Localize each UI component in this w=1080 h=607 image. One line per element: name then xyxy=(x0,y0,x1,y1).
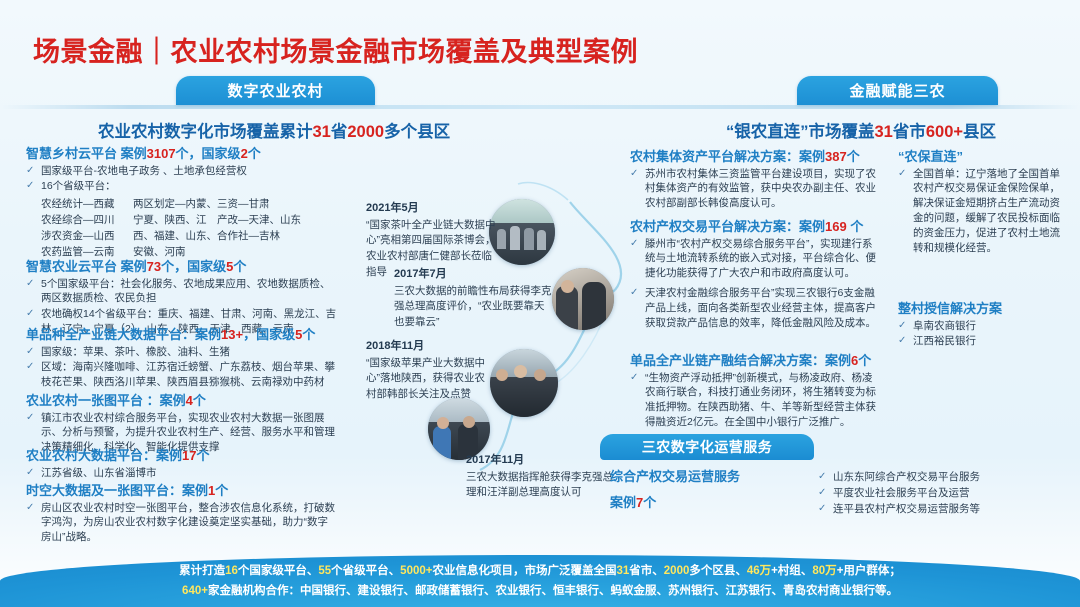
list-item: ✓区域：海南兴隆咖啡、江苏宿迁螃蟹、广东荔枝、烟台苹果、攀枝花芒果、陕西洛川苹果… xyxy=(26,360,344,390)
block-ops-service-list: ✓山东东阿综合产权交易平台服务 ✓平度农业社会服务平台及运营 ✓连平县农村产权交… xyxy=(818,470,1068,518)
heading-pre: 农业农村大数据平台：案例 xyxy=(26,448,182,463)
banner-highlight: 640+ xyxy=(182,585,208,597)
list-item: ✓阜南农商银行 xyxy=(898,319,1070,334)
left-banner-count-counties: 2000 xyxy=(347,123,384,141)
list-item-text: 苏州市农村集体三资监管平台建设项目，实现了农村集体资产的有效监管，获中央农办副主… xyxy=(645,168,876,210)
list-item-text: 全国首单：辽宁落地了全国首单农村产权交易保证金保险保单，解决保证金短期挤占生产流… xyxy=(913,168,1060,255)
list-item-text: 国家级平台-农地电子政务 、土地承包经营权 xyxy=(41,165,247,177)
list-item: ✓房山区农业农村时空一张图平台，整合涉农信息化系统，打破数字鸿沟，为房山农业农村… xyxy=(26,501,338,546)
timeline-item-2017-11: 2017年11月 三农大数据指挥舱获得李克强总理和汪洋副总理高度认可 xyxy=(466,452,618,501)
header-divider xyxy=(0,105,1080,109)
check-icon: ✓ xyxy=(898,319,906,333)
province-cell: 两区划定—内蒙、 xyxy=(133,197,217,213)
banner-highlight: 55 xyxy=(318,565,331,577)
slide-root: 场景金融｜农业农村场景金融市场覆盖及典型案例 数字农业农村 金融赋能三农 农业农… xyxy=(0,0,1080,607)
check-icon: ✓ xyxy=(818,470,826,484)
block-collective-assets: 农村集体资产平台解决方案：案例387个 ✓苏州市农村集体三资监管平台建设项目，实… xyxy=(630,148,882,212)
heading-pre: 农业农村一张图平台 ：案例 xyxy=(26,393,186,408)
photo-apple-bigdata-center xyxy=(490,349,558,417)
banner-text: 个国家级平台、 xyxy=(238,565,319,577)
list-item: ✓江西裕民银行 xyxy=(898,334,1070,349)
right-banner-count-counties: 600+ xyxy=(926,123,963,141)
heading-mid: ，国家级 xyxy=(243,327,295,342)
block-heading: 智慧农业云平台 案例73个，国家级5个 xyxy=(26,258,338,276)
check-icon: ✓ xyxy=(630,167,638,181)
banner-text: 农业信息化项目，市场广泛覆盖全国 xyxy=(432,565,616,577)
block-heading: 智慧乡村云平台 案例3107个，国家级2个 xyxy=(26,145,338,163)
block-list: ✓国家级平台-农地电子政务 、土地承包经营权 ✓16个省级平台： xyxy=(26,164,338,195)
check-icon: ✓ xyxy=(26,466,34,480)
timeline-text: 三农大数据指挥舱获得李克强总理和汪洋副总理高度认可 xyxy=(466,471,613,499)
banner-highlight: 46万 xyxy=(747,565,771,577)
left-banner-post: 多个县区 xyxy=(384,123,450,141)
check-icon: ✓ xyxy=(26,277,34,291)
list-item-text: 房山区农业农村时空一张图平台，整合涉农信息化系统，打破数字鸿沟，为房山农业农村数… xyxy=(41,502,335,544)
block-list: ✓房山区农业农村时空一张图平台，整合涉农信息化系统，打破数字鸿沟，为房山农业农村… xyxy=(26,501,338,546)
list-item: ✓滕州市“农村产权交易综合服务平台”，实现建行系统与土地流转系统的嵌入式对接，平… xyxy=(630,237,882,282)
banner-text: +用户群体； xyxy=(837,565,901,577)
check-icon: ✓ xyxy=(26,307,34,321)
banner-text: 家金融机构合作：中国银行、建设银行、邮政储蓄银行、农业银行、恒丰银行、蚂蚁金服、… xyxy=(208,585,898,597)
banner-text: 累计打造 xyxy=(179,565,225,577)
timeline-item-2017-07: 2017年7月 三农大数据的前瞻性布局获得李克强总理高度评价，“农业既要靠天也要… xyxy=(394,266,554,331)
list-item-text: 国家级：苹果、茶叶、橡胶、油料、生猪 xyxy=(41,346,230,358)
list-item-text: 江西裕民银行 xyxy=(913,335,976,347)
heading-pre: 智慧农业云平台 案例 xyxy=(26,259,147,274)
block-list: ✓苏州市农村集体三资监管平台建设项目，实现了农村集体资产的有效监管，获中央农办副… xyxy=(630,167,882,212)
heading-post: 个 xyxy=(196,448,209,463)
list-item-text: 连平县农村产权交易运营服务等 xyxy=(833,503,980,515)
list-item: ✓山东东阿综合产权交易平台服务 xyxy=(818,470,1068,485)
block-list: ✓山东东阿综合产权交易平台服务 ✓平度农业社会服务平台及运营 ✓连平县农村产权交… xyxy=(818,470,1068,517)
province-grid: 农经统计—西藏 两区划定—内蒙、 三资—甘肃 农经综合—四川 宁夏、陕西、江 产… xyxy=(41,197,338,260)
timeline-date: 2018年11月 xyxy=(366,338,488,355)
heading-pre: 单品种全产业链大数据平台：案例 xyxy=(26,327,221,342)
block-heading: 整村授信解决方案 xyxy=(898,300,1070,318)
block-list: ✓滕州市“农村产权交易综合服务平台”，实现建行系统与土地流转系统的嵌入式对接，平… xyxy=(630,237,882,331)
tab-digital-operations-services[interactable]: 三农数字化运营服务 xyxy=(600,434,814,460)
heading-pre: 时空大数据及一张图平台：案例 xyxy=(26,483,208,498)
block-list: ✓国家级：苹果、茶叶、橡胶、油料、生猪 ✓区域：海南兴隆咖啡、江苏宿迁螃蟹、广东… xyxy=(26,345,344,391)
ops-case-post: 个 xyxy=(643,495,656,510)
check-icon: ✓ xyxy=(26,164,34,178)
list-item: ✓天津农村金融综合服务平台”实现三农银行6支金融产品上线，面向各类新型农业经营主… xyxy=(630,286,882,331)
list-item-text: 16个省级平台： xyxy=(41,180,116,192)
block-industry-finance-integration: 单品全产业链产融结合解决方案：案例6个 ✓“生物资产浮动抵押”创新模式，与杨凌政… xyxy=(630,352,882,431)
banner-text: 个省级平台、 xyxy=(331,565,400,577)
check-icon: ✓ xyxy=(898,167,906,181)
check-icon: ✓ xyxy=(818,486,826,500)
heading-pre: 智慧乡村云平台 案例 xyxy=(26,146,147,161)
timeline-date: 2021年5月 xyxy=(366,200,496,217)
banner-highlight: 16 xyxy=(225,565,238,577)
check-icon: ✓ xyxy=(26,360,34,374)
list-item: ✓国家级平台-农地电子政务 、土地承包经营权 xyxy=(26,164,338,179)
heading-mid: 个，国家级 xyxy=(161,259,226,274)
heading-count: 13+ xyxy=(221,327,243,342)
check-icon: ✓ xyxy=(630,237,638,251)
check-icon: ✓ xyxy=(26,345,34,359)
heading-post: 个 xyxy=(847,149,860,164)
timeline-item-2018-11: 2018年11月 “国家级苹果产业大数据中心”落地陕西，获得农业农村部韩部长关注… xyxy=(366,338,488,403)
list-item-text: 平度农业社会服务平台及运营 xyxy=(833,487,970,499)
heading-post: 个 xyxy=(858,353,871,368)
list-item-text: 区域：海南兴隆咖啡、江苏宿迁螃蟹、广东荔枝、烟台苹果、攀枝花芒果、陕西洛川苹果、… xyxy=(41,361,335,388)
page-title: 场景金融｜农业农村场景金融市场覆盖及典型案例 xyxy=(33,30,638,69)
block-property-rights-exchange: 农村产权交易平台解决方案：案例169 个 ✓滕州市“农村产权交易综合服务平台”，… xyxy=(630,218,882,332)
check-icon: ✓ xyxy=(26,411,34,425)
list-item-text: 江苏省级、山东省淄博市 xyxy=(41,467,157,479)
right-banner-post: 县区 xyxy=(963,123,996,141)
banner-text: +村组、 xyxy=(771,565,812,577)
list-item-text: 滕州市“农村产权交易综合服务平台”，实现建行系统与土地流转系统的嵌入式对接，平台… xyxy=(645,238,876,280)
banner-highlight: 5000+ xyxy=(400,565,432,577)
check-icon: ✓ xyxy=(818,502,826,516)
block-list: ✓阜南农商银行 ✓江西裕民银行 xyxy=(898,319,1070,350)
right-banner-pre: “银农直连”市场覆盖 xyxy=(726,123,875,141)
province-cell: 三资—甘肃 xyxy=(217,197,337,213)
right-column-banner: “银农直连”市场覆盖31省市600+县区 xyxy=(726,118,996,142)
province-cell: 合作社—吉林 xyxy=(217,229,337,245)
summary-banner-line-2: 640+家金融机构合作：中国银行、建设银行、邮政储蓄银行、农业银行、恒丰银行、蚂… xyxy=(182,581,898,601)
block-heading: 单品种全产业链大数据平台：案例13+，国家级5个 xyxy=(26,326,344,344)
heading-post: 个 xyxy=(215,483,228,498)
heading-count: 387 xyxy=(825,149,847,164)
list-item: ✓连平县农村产权交易运营服务等 xyxy=(818,502,1068,517)
list-item-text: 阜南农商银行 xyxy=(913,320,976,332)
heading-pre: 农村产权交易平台解决方案：案例 xyxy=(630,219,825,234)
heading-count: 73 xyxy=(147,259,161,274)
block-heading: 农村集体资产平台解决方案：案例387个 xyxy=(630,148,882,166)
banner-highlight: 80万 xyxy=(812,565,836,577)
photo-premier-evaluation xyxy=(552,268,614,330)
heading-post: 个 xyxy=(193,393,206,408)
photo-bigdata-command-cabin xyxy=(428,398,490,460)
heading-count: 17 xyxy=(182,448,196,463)
heading-pre: 农村集体资产平台解决方案：案例 xyxy=(630,149,825,164)
right-banner-mid: 省市 xyxy=(893,123,926,141)
list-item: ✓国家级：苹果、茶叶、橡胶、油料、生猪 xyxy=(26,345,344,360)
check-icon: ✓ xyxy=(630,371,638,385)
province-cell: 农经统计—西藏 xyxy=(41,197,133,213)
timeline-date: 2017年11月 xyxy=(466,452,618,469)
heading-count: 3107 xyxy=(147,146,176,161)
list-item-text: 5个国家级平台：社会化服务、农地成果应用、农地数据质检、两区数据质检、农民负担 xyxy=(41,278,330,305)
check-icon: ✓ xyxy=(630,286,638,300)
heading-count: 4 xyxy=(186,393,193,408)
block-single-crop-bigdata: 单品种全产业链大数据平台：案例13+，国家级5个 ✓国家级：苹果、茶叶、橡胶、油… xyxy=(26,326,344,391)
heading-post: 个 xyxy=(248,146,261,161)
block-spatiotemporal-platform: 时空大数据及一张图平台：案例1个 ✓房山区农业农村时空一张图平台，整合涉农信息化… xyxy=(26,482,338,546)
block-village-credit: 整村授信解决方案 ✓阜南农商银行 ✓江西裕民银行 xyxy=(898,300,1070,350)
photo-tea-expo xyxy=(489,199,555,265)
list-item: ✓“生物资产浮动抵押”创新模式，与杨凌政府、杨凌农商行联合，科技打通业务闭环，将… xyxy=(630,371,882,431)
list-item-text: 天津农村金融综合服务平台”实现三农银行6支金融产品上线，面向各类新型农业经营主体… xyxy=(645,287,876,329)
block-heading: 农业农村大数据平台：案例17个 xyxy=(26,447,338,465)
summary-banner-line-1: 累计打造16个国家级平台、55个省级平台、5000+农业信息化项目，市场广泛覆盖… xyxy=(179,561,901,581)
province-cell: 西、福建、山东、 xyxy=(133,229,217,245)
left-banner-mid: 省 xyxy=(331,123,348,141)
ops-case-pre: 案例 xyxy=(610,495,636,510)
block-heading: 农业农村一张图平台 ：案例4个 xyxy=(26,392,338,410)
province-cell: 宁夏、陕西、江 xyxy=(133,213,217,229)
summary-banner: 累计打造16个国家级平台、55个省级平台、5000+农业信息化项目，市场广泛覆盖… xyxy=(0,555,1080,607)
check-icon: ✓ xyxy=(26,501,34,515)
heading-post: 个 xyxy=(233,259,246,274)
timeline-text: “国家级苹果产业大数据中心”落地陕西，获得农业农村部韩部长关注及点赞 xyxy=(366,357,485,401)
banner-highlight: 31 xyxy=(616,565,629,577)
province-cell: 涉农资金—山西 xyxy=(41,229,133,245)
list-item: ✓江苏省级、山东省淄博市 xyxy=(26,466,338,481)
block-heading: “农保直连” xyxy=(898,148,1070,166)
heading-count: 169 xyxy=(825,219,847,234)
list-item: ✓平度农业社会服务平台及运营 xyxy=(818,486,1068,501)
timeline-text: 三农大数据的前瞻性布局获得李克强总理高度评价，“农业既要靠天也要靠云” xyxy=(394,285,552,329)
list-item-text: 山东东阿综合产权交易平台服务 xyxy=(833,471,980,483)
block-list: ✓全国首单：辽宁落地了全国首单农村产权交易保证金保险保单，解决保证金短期挤占生产… xyxy=(898,167,1070,256)
banner-highlight: 2000 xyxy=(664,565,690,577)
check-icon: ✓ xyxy=(26,179,34,193)
right-banner-count-provinces: 31 xyxy=(875,123,893,141)
block-heading: 单品全产业链产融结合解决方案：案例6个 xyxy=(630,352,882,370)
block-list: ✓“生物资产浮动抵押”创新模式，与杨凌政府、杨凌农商行联合，科技打通业务闭环，将… xyxy=(630,371,882,431)
left-banner-count-provinces: 31 xyxy=(313,123,331,141)
list-item: ✓16个省级平台： xyxy=(26,179,338,194)
timeline-date: 2017年7月 xyxy=(394,266,554,283)
list-item: ✓全国首单：辽宁落地了全国首单农村产权交易保证金保险保单，解决保证金短期挤占生产… xyxy=(898,167,1070,256)
ops-title: 综合产权交易运营服务 xyxy=(610,468,770,486)
heading-post: 个 xyxy=(302,327,315,342)
province-cell: 产改—天津、山东 xyxy=(217,213,337,229)
block-smart-village-cloud: 智慧乡村云平台 案例3107个，国家级2个 ✓国家级平台-农地电子政务 、土地承… xyxy=(26,145,338,260)
province-cell: 农经综合—四川 xyxy=(41,213,133,229)
heading-count-2: 2 xyxy=(241,146,248,161)
left-banner-pre: 农业农村数字化市场覆盖累计 xyxy=(98,123,313,141)
tab-finance-empowerment[interactable]: 金融赋能三农 xyxy=(797,76,998,105)
block-heading: 时空大数据及一张图平台：案例1个 xyxy=(26,482,338,500)
list-item: ✓5个国家级平台：社会化服务、农地成果应用、农地数据质检、两区数据质检、农民负担 xyxy=(26,277,338,307)
heading-post: 个 xyxy=(847,219,864,234)
block-comprehensive-exchange-ops: 综合产权交易运营服务 案例7个 xyxy=(610,468,770,512)
heading-pre: 单品全产业链产融结合解决方案：案例 xyxy=(630,353,851,368)
block-heading: 农村产权交易平台解决方案：案例169 个 xyxy=(630,218,882,236)
heading-mid: 个，国家级 xyxy=(176,146,241,161)
banner-text: 省市、 xyxy=(629,565,664,577)
list-item-text: “生物资产浮动抵押”创新模式，与杨凌政府、杨凌农商行联合，科技打通业务闭环，将生… xyxy=(645,372,876,429)
block-insurance-direct: “农保直连” ✓全国首单：辽宁落地了全国首单农村产权交易保证金保险保单，解决保证… xyxy=(898,148,1070,257)
list-item: ✓苏州市农村集体三资监管平台建设项目，实现了农村集体资产的有效监管，获中央农办副… xyxy=(630,167,882,212)
check-icon: ✓ xyxy=(898,334,906,348)
ops-case-count: 案例7个 xyxy=(610,494,770,512)
block-list: ✓江苏省级、山东省淄博市 xyxy=(26,466,338,481)
tab-digital-agriculture[interactable]: 数字农业农村 xyxy=(176,76,375,105)
block-agri-bigdata-platform: 农业农村大数据平台：案例17个 ✓江苏省级、山东省淄博市 xyxy=(26,447,338,481)
banner-text: 多个区县、 xyxy=(689,565,747,577)
left-column-banner: 农业农村数字化市场覆盖累计31省2000多个县区 xyxy=(98,118,450,142)
